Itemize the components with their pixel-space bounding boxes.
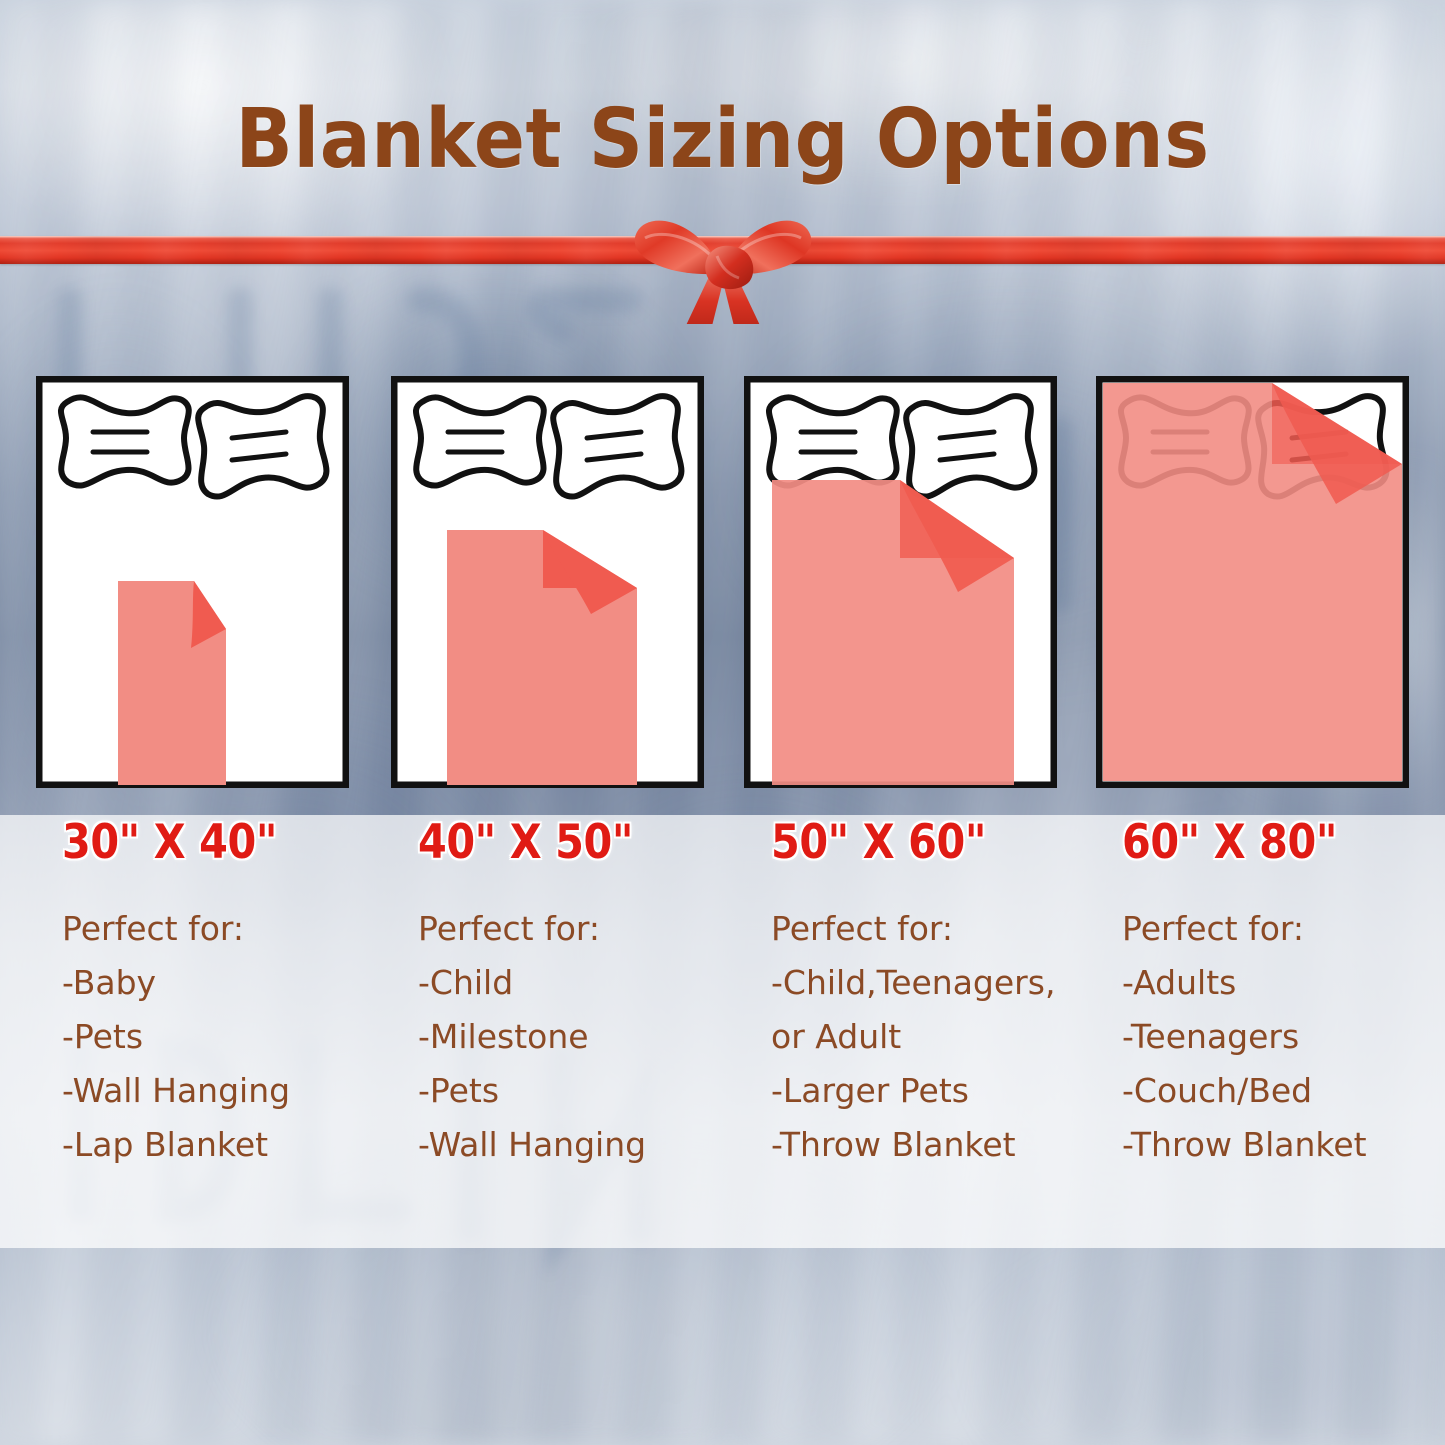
bed-diagram-60x80 xyxy=(1096,376,1409,788)
list-item: -Baby xyxy=(62,956,402,1010)
size-column-40x50: 40" X 50" Perfect for: -Child -Milestone… xyxy=(418,815,758,1172)
list-item: -Wall Hanging xyxy=(418,1118,758,1172)
size-column-50x60: 50" X 60" Perfect for: -Child,Teenagers,… xyxy=(771,815,1131,1172)
list-item: -Wall Hanging xyxy=(62,1064,402,1118)
list-item: -Throw Blanket xyxy=(771,1118,1131,1172)
ribbon-bow-icon xyxy=(603,204,843,324)
perfect-for-heading: Perfect for: xyxy=(771,902,1131,956)
size-column-30x40: 30" X 40" Perfect for: -Baby -Pets -Wall… xyxy=(62,815,402,1172)
uses-list-30x40: Perfect for: -Baby -Pets -Wall Hanging -… xyxy=(62,902,402,1172)
bed-diagram-50x60 xyxy=(744,376,1057,788)
size-label-50x60: 50" X 60" xyxy=(771,815,1088,870)
bed-diagram-row xyxy=(0,376,1445,788)
bed-diagram-30x40 xyxy=(36,376,349,788)
size-label-60x80: 60" X 80" xyxy=(1122,815,1404,870)
perfect-for-heading: Perfect for: xyxy=(62,902,402,956)
bed-diagram-40x50 xyxy=(391,376,704,788)
uses-list-50x60: Perfect for: -Child,Teenagers, or Adult … xyxy=(771,902,1131,1172)
list-item: -Larger Pets xyxy=(771,1064,1131,1118)
size-info-columns: 30" X 40" Perfect for: -Baby -Pets -Wall… xyxy=(0,815,1445,1248)
size-label-40x50: 40" X 50" xyxy=(418,815,717,870)
list-item: -Pets xyxy=(418,1064,758,1118)
size-column-60x80: 60" X 80" Perfect for: -Adults -Teenager… xyxy=(1122,815,1442,1172)
list-item: -Child xyxy=(418,956,758,1010)
list-item: -Throw Blanket xyxy=(1122,1118,1442,1172)
ribbon-decoration xyxy=(0,228,1445,338)
list-item: -Pets xyxy=(62,1010,402,1064)
list-item: -Lap Blanket xyxy=(62,1118,402,1172)
list-item: -Milestone xyxy=(418,1010,758,1064)
blanket-sizing-infographic: Blanket Sizing Options xyxy=(0,0,1445,1445)
perfect-for-heading: Perfect for: xyxy=(1122,902,1442,956)
list-item: or Adult xyxy=(771,1010,1131,1064)
list-item: -Couch/Bed xyxy=(1122,1064,1442,1118)
list-item: -Child,Teenagers, xyxy=(771,956,1131,1010)
list-item: -Adults xyxy=(1122,956,1442,1010)
page-title: Blanket Sizing Options xyxy=(58,92,1387,187)
list-item: -Teenagers xyxy=(1122,1010,1442,1064)
uses-list-60x80: Perfect for: -Adults -Teenagers -Couch/B… xyxy=(1122,902,1442,1172)
size-label-30x40: 30" X 40" xyxy=(62,815,361,870)
perfect-for-heading: Perfect for: xyxy=(418,902,758,956)
uses-list-40x50: Perfect for: -Child -Milestone -Pets -Wa… xyxy=(418,902,758,1172)
